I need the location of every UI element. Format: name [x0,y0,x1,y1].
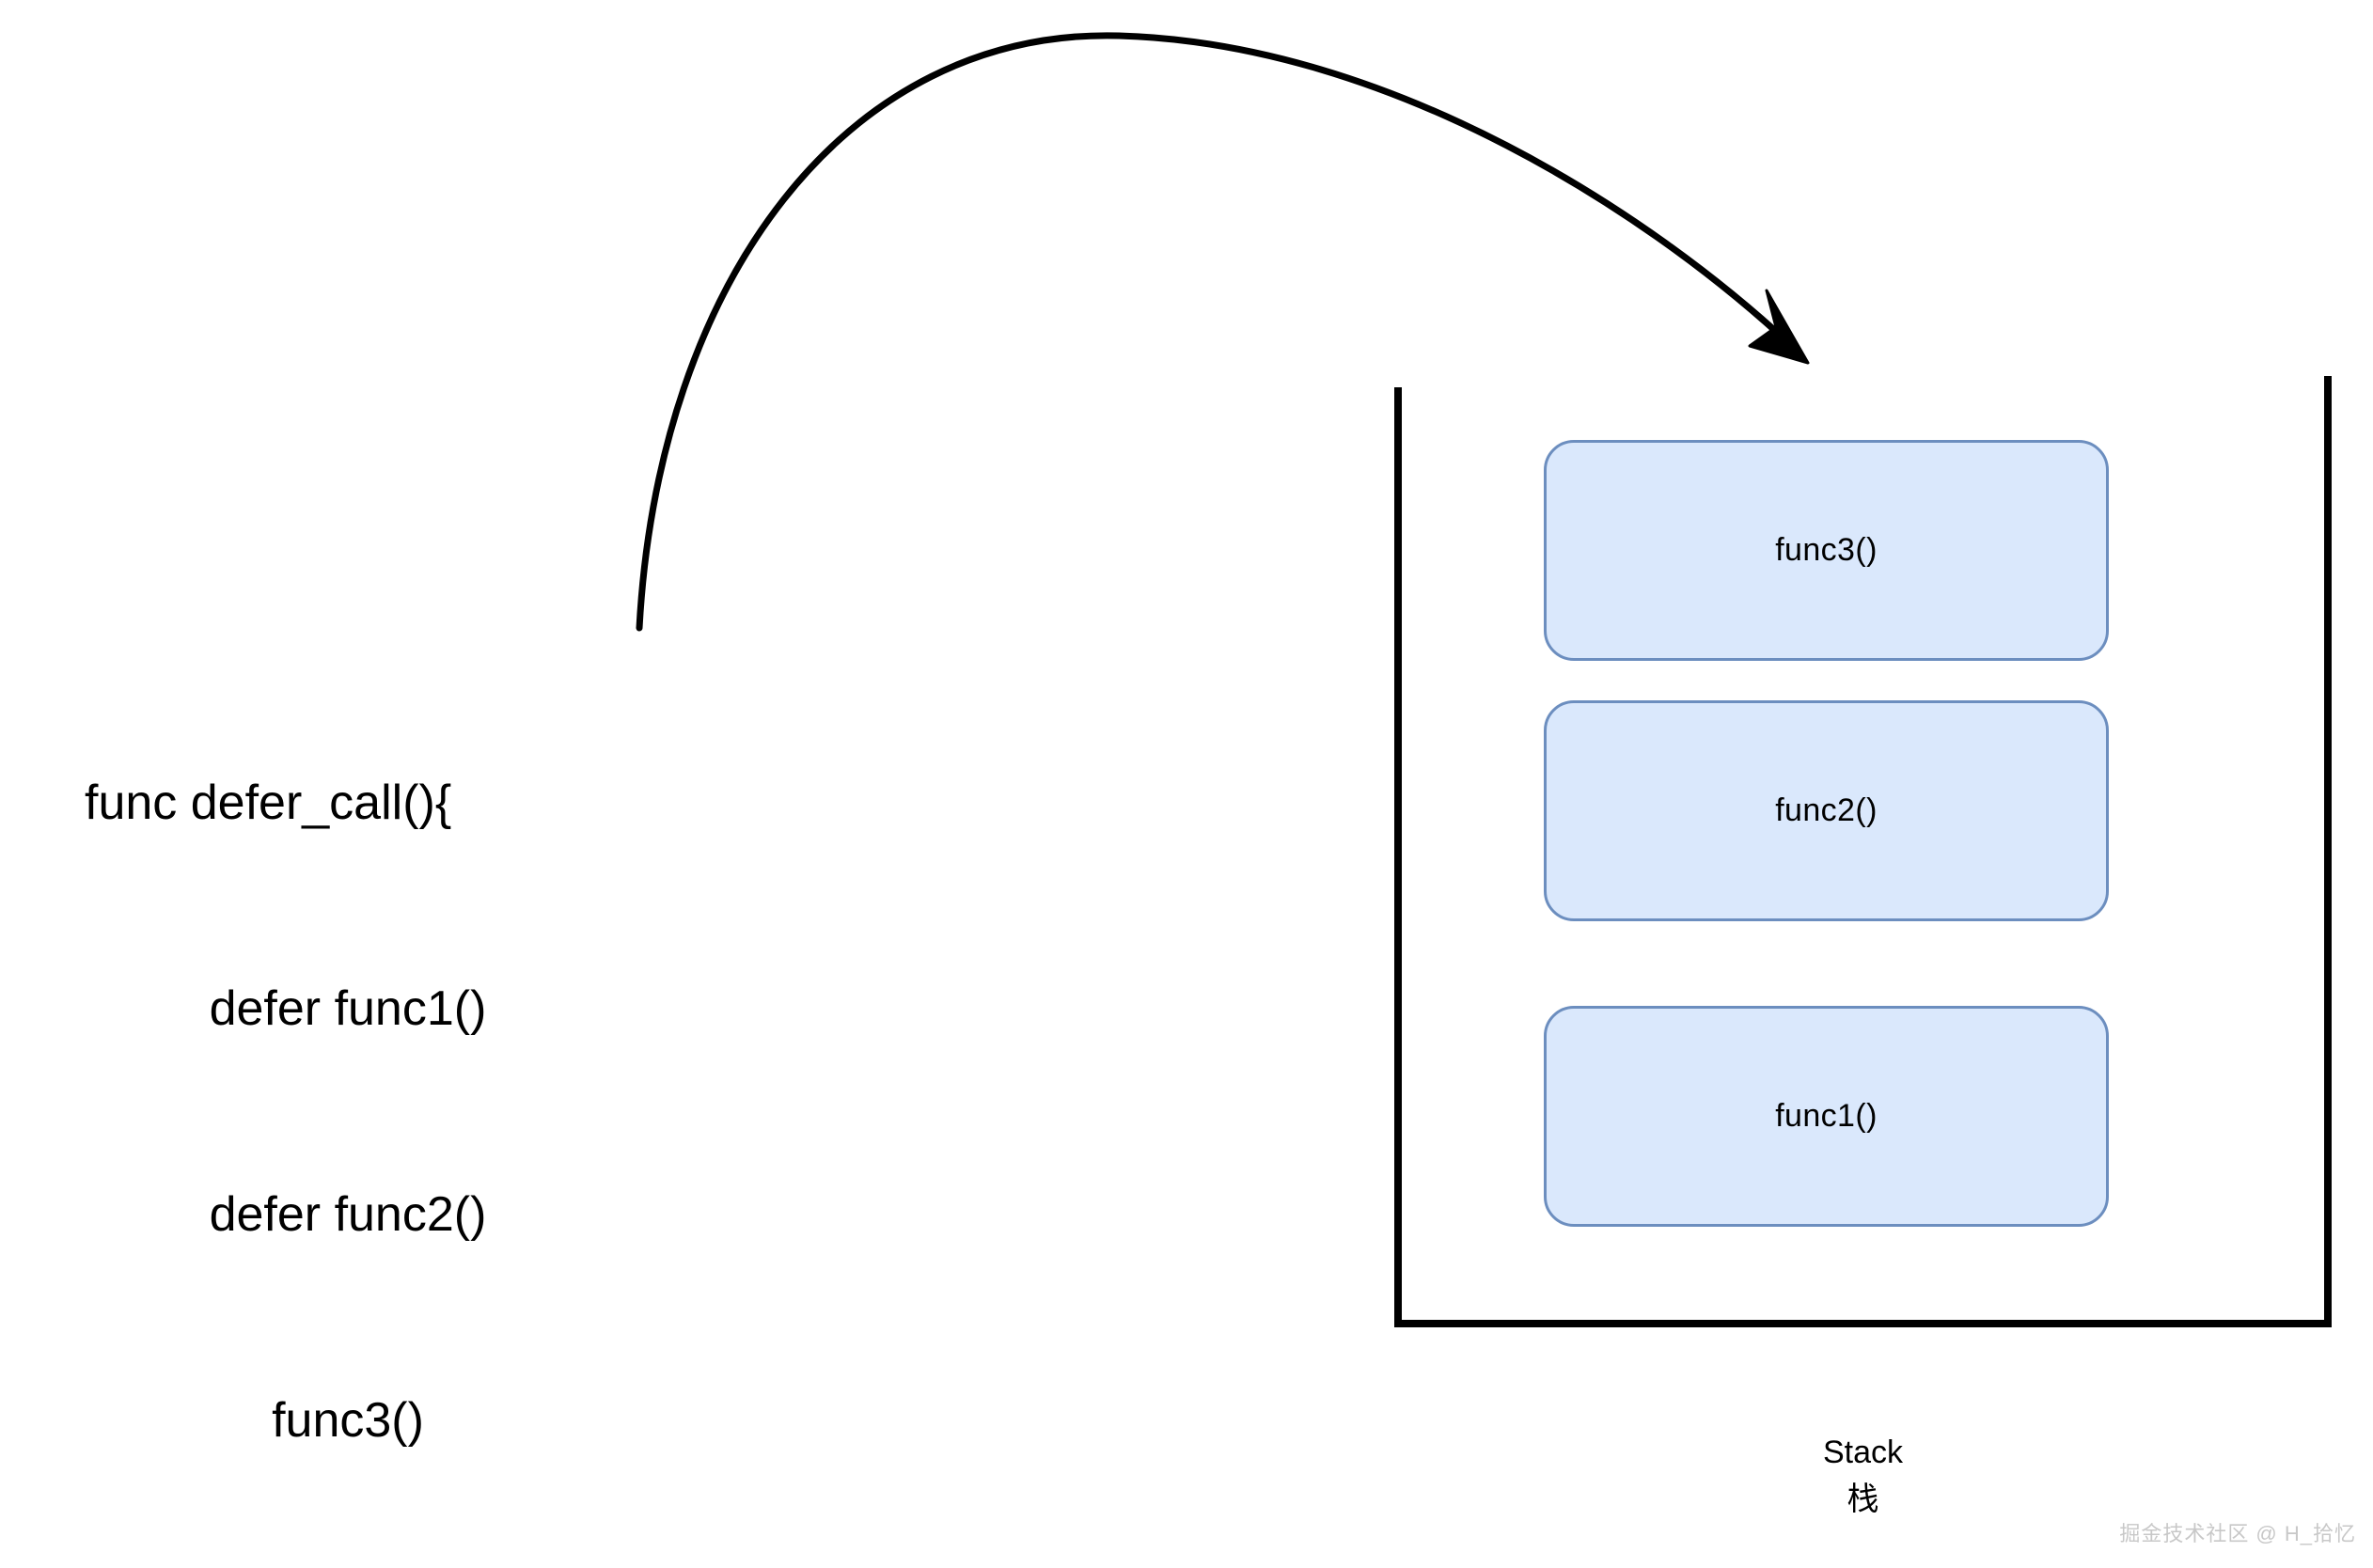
code-line-defer-func2: defer func2() [56,1181,639,1249]
stack-caption: Stack 栈 [1394,1429,2332,1523]
code-line-defer-func1: defer func1() [56,975,639,1043]
stack-caption-english: Stack [1394,1429,2332,1476]
diagram-canvas: func defer_call(){ defer func1() defer f… [0,0,2373,1568]
stack-wall-left [1394,387,1402,1327]
stack-frame-label: func1() [1775,1098,1878,1135]
watermark: 掘金技术社区 @ H_拾忆 [2119,1517,2356,1547]
code-line-func-signature: func defer_call(){ [56,769,639,838]
stack-frame-func2[interactable]: func2() [1544,700,2109,921]
stack-frame-func3[interactable]: func3() [1544,440,2109,661]
stack-frame-label: func2() [1775,792,1878,829]
code-block: func defer_call(){ defer func1() defer f… [56,632,639,1568]
stack-frame-label: func3() [1775,532,1878,569]
stack-floor [1394,1320,2332,1327]
stack-caption-chinese: 栈 [1394,1476,2332,1523]
code-line-func3: func3() [56,1387,639,1455]
stack-wall-right [2324,376,2332,1327]
stack-frame-func1[interactable]: func1() [1544,1006,2109,1227]
